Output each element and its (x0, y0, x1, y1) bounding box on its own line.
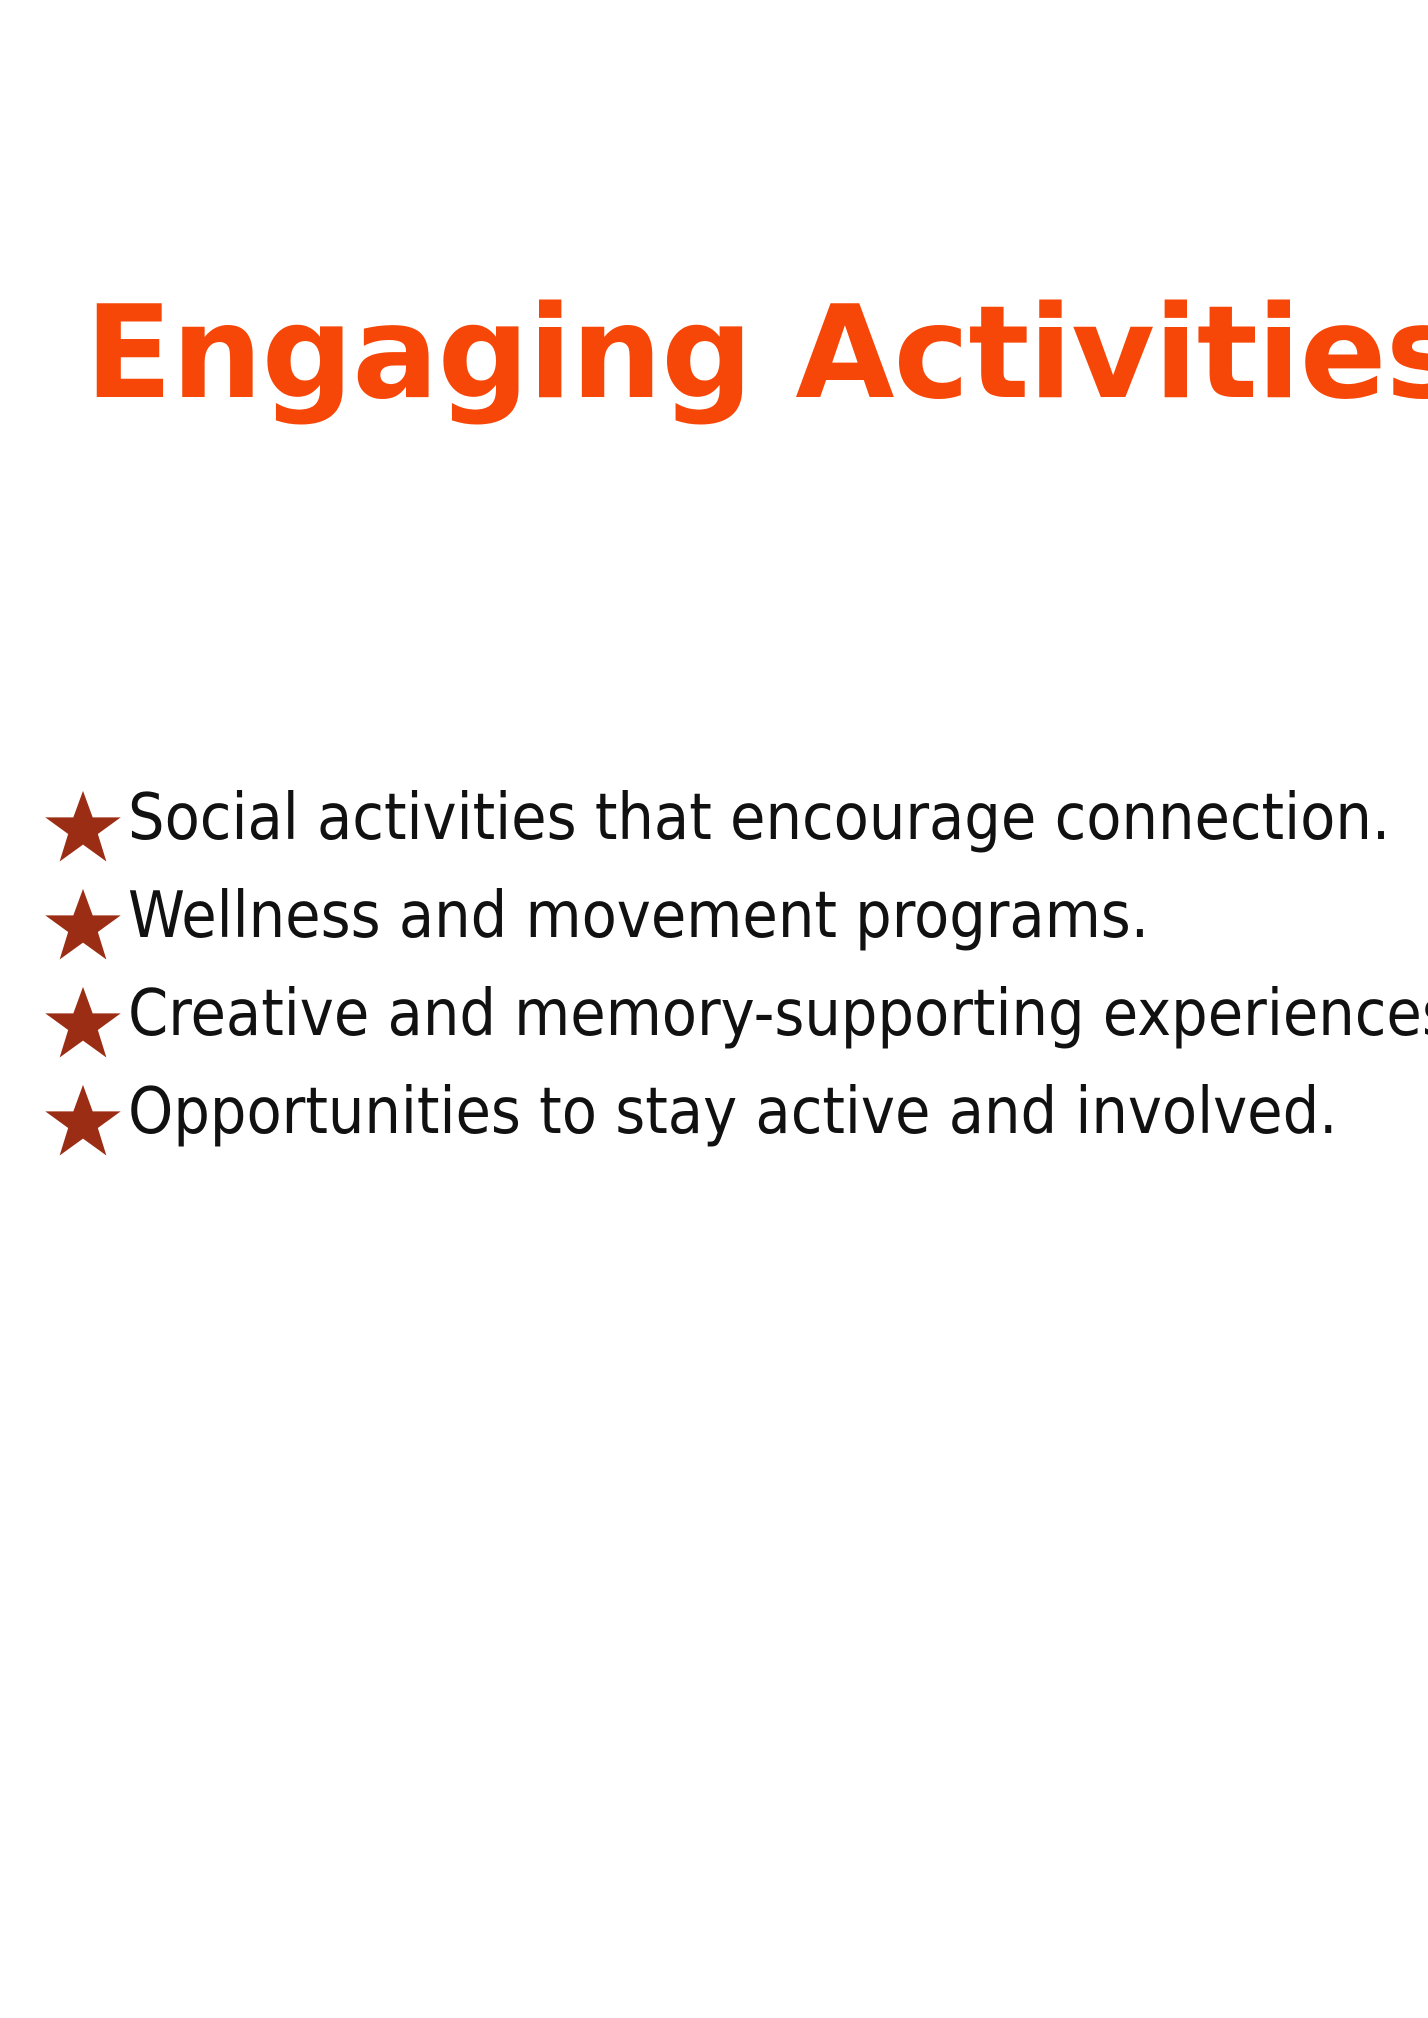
list-item: Social activities that encourage connect… (42, 772, 1428, 868)
star-icon (42, 786, 124, 868)
list-item-label: Wellness and movement programs. (124, 870, 1149, 963)
slide-canvas: Engaging Activities Social activities th… (0, 0, 1428, 2018)
star-icon (42, 884, 124, 966)
bullet-list: Social activities that encourage connect… (42, 772, 1428, 1164)
page-title-container: Engaging Activities (85, 282, 1428, 425)
list-item-label: Opportunities to stay active and involve… (124, 1066, 1337, 1159)
list-item-label: Creative and memory-supporting experienc… (124, 968, 1428, 1061)
list-item-label: Social activities that encourage connect… (124, 772, 1390, 865)
star-icon (42, 1080, 124, 1162)
star-icon (42, 982, 124, 1064)
list-item: Opportunities to stay active and involve… (42, 1066, 1428, 1162)
page-title: Engaging Activities (85, 282, 1428, 425)
list-item: Creative and memory-supporting experienc… (42, 968, 1428, 1064)
list-item: Wellness and movement programs. (42, 870, 1428, 966)
